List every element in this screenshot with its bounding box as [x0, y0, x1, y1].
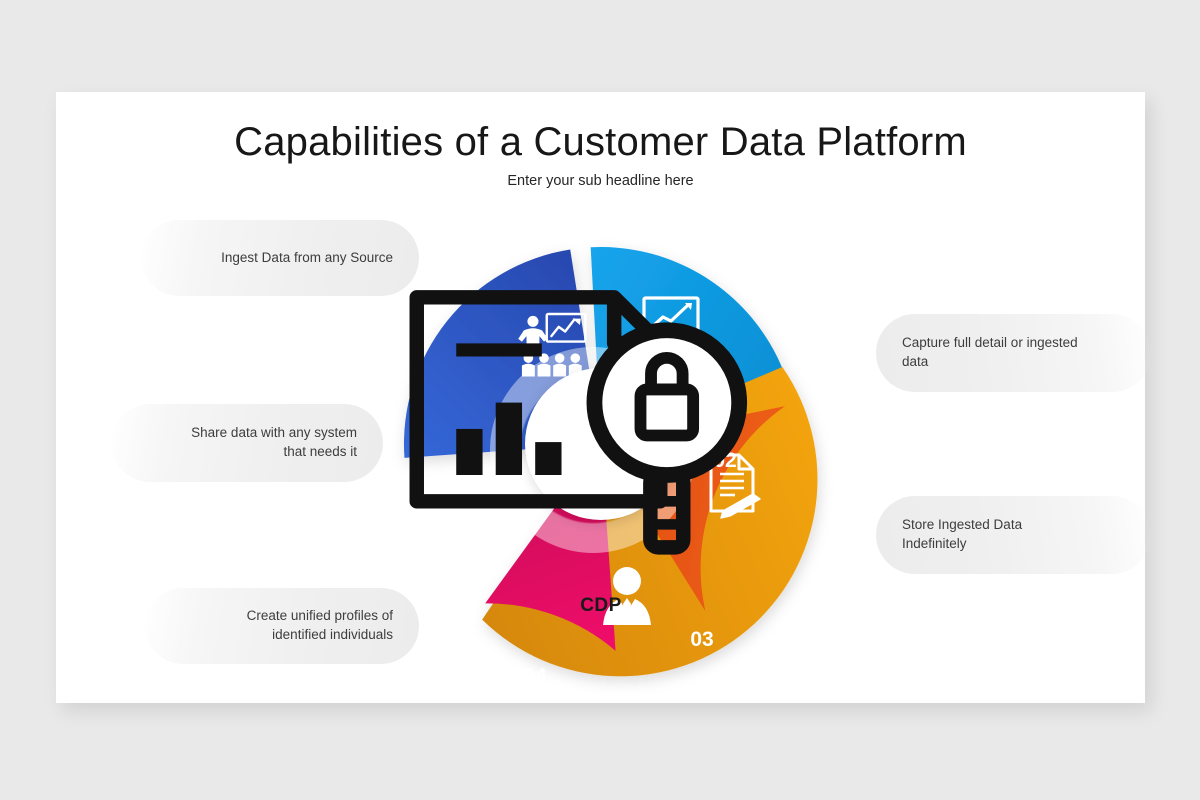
center-hub[interactable]: CDP — [525, 368, 677, 520]
callout-label-02-line-1: Capture full detail or ingested — [902, 334, 1078, 353]
callout-label-02[interactable]: Capture full detail or ingested data — [876, 314, 1151, 392]
callout-label-01[interactable]: Ingest Data from any Source — [141, 220, 419, 296]
callout-label-04[interactable]: Create unified profiles of identified in… — [145, 588, 419, 664]
callout-label-03-line-2: Indefinitely — [902, 535, 1022, 554]
callout-label-05-line-2: that needs it — [191, 443, 357, 462]
callout-label-04-line-1: Create unified profiles of — [247, 607, 393, 626]
center-hub-label: CDP — [580, 595, 622, 617]
callout-label-01-line-1: Ingest Data from any Source — [221, 249, 393, 268]
data-report-magnifier-lock-icon — [397, 271, 805, 587]
callout-label-05-line-1: Share data with any system — [191, 424, 357, 443]
callout-label-02-line-2: data — [902, 353, 1078, 372]
pie-segment-04-number: 04 — [523, 665, 547, 688]
capabilities-pie-chart: 01 02 03 04 05 — [397, 240, 805, 648]
callout-label-03-line-1: Store Ingested Data — [902, 516, 1022, 535]
pie-segment-03-number: 03 — [690, 628, 713, 651]
slide-card: Capabilities of a Customer Data Platform… — [56, 92, 1145, 703]
callout-label-03[interactable]: Store Ingested Data Indefinitely — [876, 496, 1151, 574]
callout-label-05[interactable]: Share data with any system that needs it — [111, 404, 383, 482]
callout-label-04-line-2: identified individuals — [247, 626, 393, 645]
page-title: Capabilities of a Customer Data Platform — [56, 120, 1145, 165]
page-subtitle: Enter your sub headline here — [56, 173, 1145, 189]
